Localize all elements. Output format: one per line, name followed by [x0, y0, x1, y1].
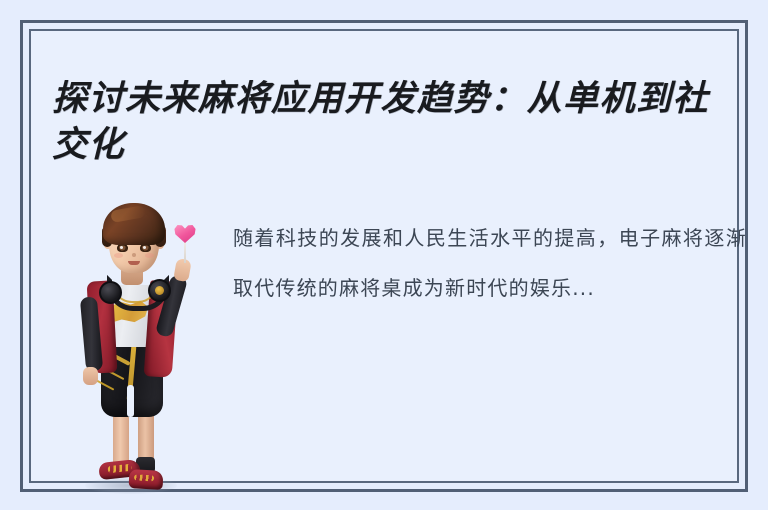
right-sneaker — [129, 469, 164, 490]
headphones-right-cup — [148, 279, 171, 302]
shorts-leg-gap — [127, 385, 134, 417]
left-hand — [83, 367, 98, 385]
nose — [132, 253, 136, 257]
article-excerpt: 随着科技的发展和人民生活水平的提高，电子麻将逐渐取代传统的麻将桌成为新时代的娱乐… — [233, 213, 747, 313]
right-hand — [173, 258, 192, 282]
right-blush — [145, 253, 154, 258]
right-eye — [140, 244, 151, 252]
article-card: 探讨未来麻将应用开发趋势：从单机到社交化 — [20, 20, 748, 492]
page-title: 探讨未来麻将应用开发趋势：从单机到社交化 — [52, 76, 712, 168]
article-card-inner-frame: 探讨未来麻将应用开发趋势：从单机到社交化 — [29, 29, 739, 483]
headphones-left-cup — [99, 281, 122, 304]
left-eye — [117, 244, 128, 252]
heart-lollipop-icon — [174, 223, 196, 243]
hair — [103, 203, 165, 245]
character-illustration — [71, 189, 197, 501]
left-blush — [114, 253, 123, 258]
card-content-row: 随着科技的发展和人民生活水平的提高，电子麻将逐渐取代传统的麻将桌成为新时代的娱乐… — [31, 167, 737, 481]
